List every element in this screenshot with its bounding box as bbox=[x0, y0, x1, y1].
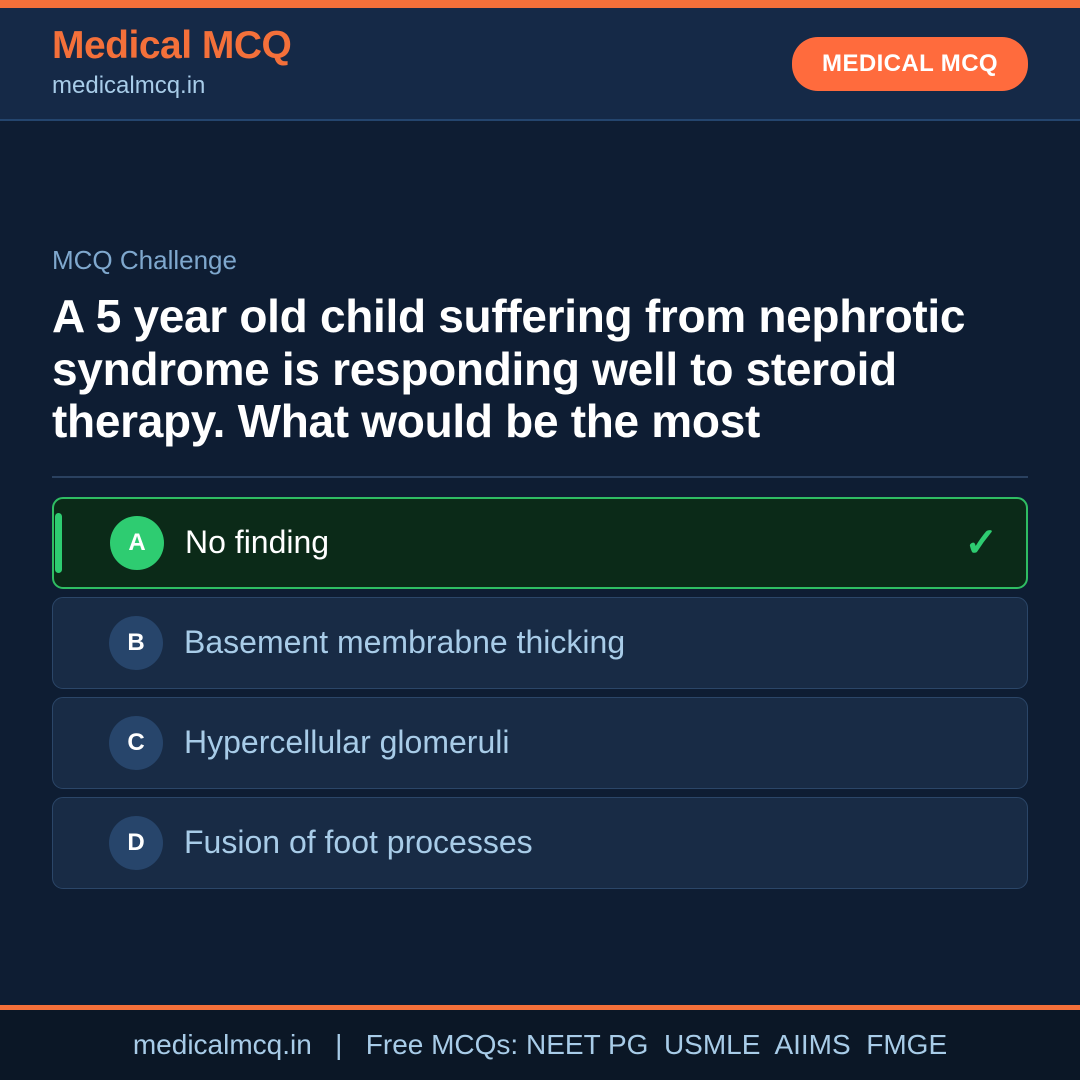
option-a[interactable]: A No finding ✓ bbox=[52, 497, 1028, 589]
option-b[interactable]: B Basement membrabne thicking bbox=[52, 597, 1028, 689]
brand-title: Medical MCQ bbox=[52, 26, 291, 67]
option-a-badge: A bbox=[110, 516, 164, 570]
option-d-badge: D bbox=[109, 816, 163, 870]
footer-text: medicalmcq.in | Free MCQs: NEET PG USMLE… bbox=[133, 1028, 947, 1062]
option-b-badge: B bbox=[109, 616, 163, 670]
page-footer: medicalmcq.in | Free MCQs: NEET PG USMLE… bbox=[0, 1010, 1080, 1080]
brand-block: Medical MCQ medicalmcq.in bbox=[52, 26, 291, 101]
options-list: A No finding ✓ B Basement membrabne thic… bbox=[52, 497, 1028, 889]
option-b-label: Basement membrabne thicking bbox=[184, 623, 999, 661]
brand-url: medicalmcq.in bbox=[52, 70, 291, 101]
option-a-label: No finding bbox=[185, 523, 952, 561]
header-badge: MEDICAL MCQ bbox=[792, 37, 1028, 91]
option-d-label: Fusion of foot processes bbox=[184, 823, 999, 861]
option-c[interactable]: C Hypercellular glomeruli bbox=[52, 697, 1028, 789]
option-d[interactable]: D Fusion of foot processes bbox=[52, 797, 1028, 889]
question-text: A 5 year old child suffering from nephro… bbox=[52, 290, 1028, 447]
top-accent-bar bbox=[0, 0, 1080, 8]
question-divider bbox=[52, 476, 1028, 478]
main-content: MCQ Challenge A 5 year old child sufferi… bbox=[0, 121, 1080, 1005]
checkmark-icon: ✓ bbox=[964, 523, 998, 563]
option-c-label: Hypercellular glomeruli bbox=[184, 723, 999, 761]
page-header: Medical MCQ medicalmcq.in MEDICAL MCQ bbox=[0, 8, 1080, 121]
mcq-challenge-label: MCQ Challenge bbox=[52, 121, 1028, 276]
option-c-badge: C bbox=[109, 716, 163, 770]
